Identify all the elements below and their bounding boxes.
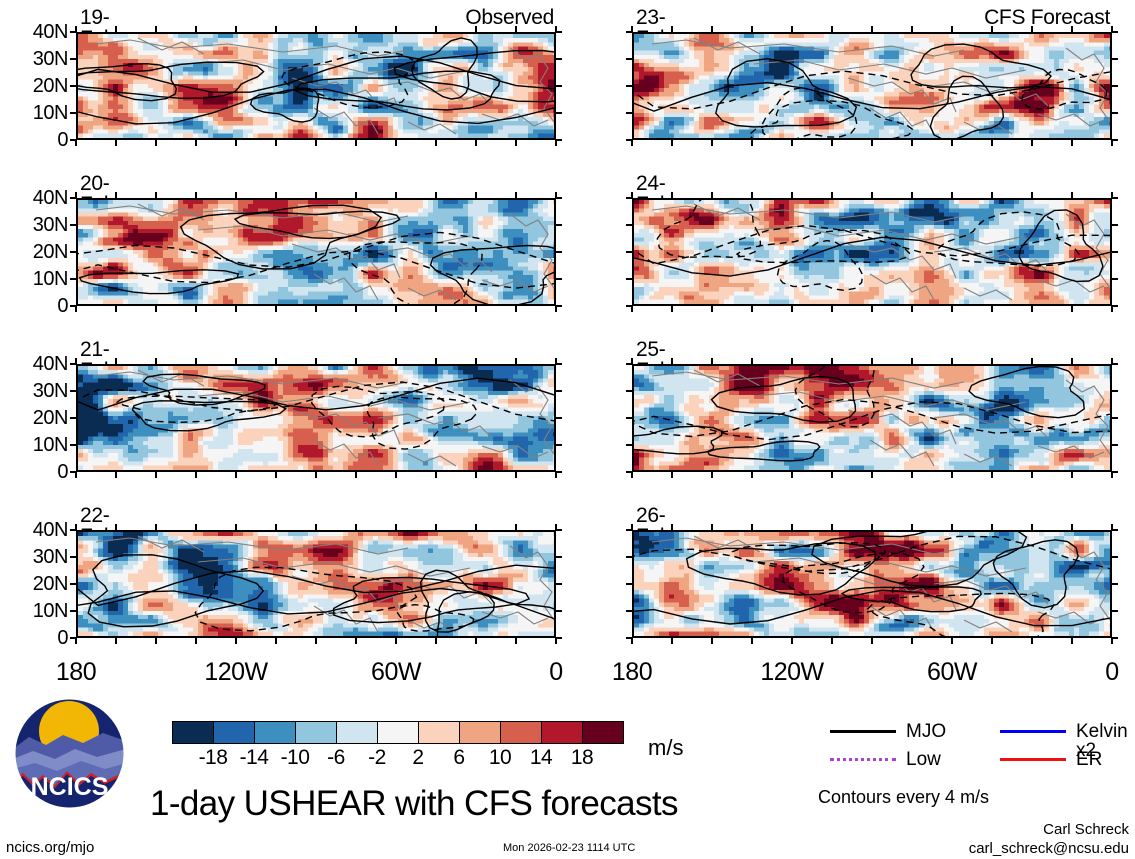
panel-kind-label: CFS Forecast — [882, 7, 1110, 28]
legend-swatch-low — [830, 758, 896, 761]
x-tick-mark — [515, 358, 517, 364]
legend-label-er: ER — [1076, 750, 1102, 769]
y-tick-40N: 40N — [2, 520, 68, 540]
x-tick-mark — [315, 306, 317, 312]
x-tick-mark — [671, 524, 673, 530]
colorbar — [172, 721, 624, 744]
x-tick-mark — [831, 26, 833, 32]
x-tick-mark — [515, 638, 517, 644]
x-tick-mark — [951, 358, 953, 364]
y-tick-mark — [1112, 139, 1118, 141]
y-tick-mark — [556, 224, 562, 226]
colorbar-swatch-4 — [336, 722, 377, 743]
y-tick-mark — [70, 139, 76, 141]
colorbar-swatch-9 — [541, 722, 582, 743]
y-tick-40N: 40N — [2, 188, 68, 208]
y-tick-mark — [626, 444, 632, 446]
y-tick-mark — [1112, 197, 1118, 199]
y-tick-mark — [1112, 556, 1118, 558]
x-tick-mark — [1031, 472, 1033, 478]
y-tick-mark — [556, 278, 562, 280]
x-tick-mark — [195, 26, 197, 32]
y-tick-mark — [1112, 583, 1118, 585]
y-tick-mark — [626, 85, 632, 87]
x-tick-mark — [475, 358, 477, 364]
x-tick-mark — [195, 638, 197, 644]
x-tick-mark — [1031, 26, 1033, 32]
y-tick-mark — [1112, 278, 1118, 280]
x-tick-mark — [951, 26, 953, 32]
x-tick-right-60W: 60W — [907, 660, 997, 685]
y-tick-mark — [626, 112, 632, 114]
x-tick-mark — [395, 358, 397, 364]
x-tick-mark — [871, 306, 873, 312]
colorbar-swatch-8 — [500, 722, 541, 743]
y-tick-mark — [626, 139, 632, 141]
x-tick-mark — [435, 306, 437, 312]
x-tick-mark — [395, 472, 397, 478]
x-tick-mark — [475, 192, 477, 198]
x-tick-mark — [275, 306, 277, 312]
x-tick-mark — [751, 472, 753, 478]
x-tick-mark — [1031, 524, 1033, 530]
x-tick-mark — [355, 524, 357, 530]
y-tick-mark — [1112, 444, 1118, 446]
y-tick-mark — [70, 556, 76, 558]
x-tick-mark — [1071, 638, 1073, 644]
y-tick-10N: 10N — [2, 601, 68, 621]
x-tick-mark — [711, 638, 713, 644]
x-tick-mark — [475, 140, 477, 146]
x-tick-mark — [751, 306, 753, 312]
x-tick-mark — [195, 192, 197, 198]
x-tick-mark — [751, 358, 753, 364]
x-tick-mark — [711, 306, 713, 312]
x-tick-mark — [1031, 638, 1033, 644]
x-tick-mark — [195, 306, 197, 312]
x-tick-mark — [711, 192, 713, 198]
x-tick-mark — [235, 140, 237, 146]
colorbar-swatch-3 — [295, 722, 336, 743]
x-tick-mark — [115, 306, 117, 312]
x-tick-mark — [751, 140, 753, 146]
y-tick-10N: 10N — [2, 435, 68, 455]
x-tick-mark — [911, 472, 913, 478]
x-tick-mark — [911, 192, 913, 198]
y-tick-mark — [1112, 529, 1118, 531]
x-tick-left-180: 180 — [31, 660, 121, 685]
colorbar-swatch-2 — [254, 722, 295, 743]
x-tick-mark — [315, 524, 317, 530]
x-tick-left-60W: 60W — [351, 660, 441, 685]
x-tick-mark — [671, 192, 673, 198]
colorbar-swatch-0 — [173, 722, 213, 743]
y-tick-mark — [556, 529, 562, 531]
x-tick-mark — [791, 472, 793, 478]
x-tick-mark — [911, 306, 913, 312]
y-tick-mark — [70, 305, 76, 307]
x-tick-mark — [155, 140, 157, 146]
y-tick-mark — [626, 556, 632, 558]
x-tick-mark — [711, 140, 713, 146]
panel-kind-label: Observed — [326, 7, 554, 28]
x-tick-mark — [155, 192, 157, 198]
x-tick-mark — [751, 524, 753, 530]
y-tick-mark — [626, 390, 632, 392]
x-tick-mark — [1031, 140, 1033, 146]
x-tick-mark — [315, 192, 317, 198]
y-tick-mark — [556, 637, 562, 639]
x-tick-mark — [711, 524, 713, 530]
x-tick-mark — [871, 192, 873, 198]
x-tick-mark — [235, 192, 237, 198]
x-tick-mark — [395, 140, 397, 146]
x-tick-mark — [155, 472, 157, 478]
plot-area — [76, 530, 556, 638]
x-tick-mark — [235, 306, 237, 312]
y-tick-mark — [556, 85, 562, 87]
x-tick-mark — [435, 26, 437, 32]
x-tick-mark — [355, 306, 357, 312]
x-tick-mark — [355, 472, 357, 478]
y-tick-mark — [556, 471, 562, 473]
x-tick-mark — [475, 26, 477, 32]
colorbar-units: m/s — [648, 737, 683, 759]
x-tick-mark — [515, 26, 517, 32]
y-tick-mark — [556, 139, 562, 141]
x-tick-mark — [871, 524, 873, 530]
x-tick-mark — [395, 26, 397, 32]
y-tick-mark — [1112, 471, 1118, 473]
y-tick-mark — [556, 363, 562, 365]
x-tick-mark — [435, 140, 437, 146]
y-tick-mark — [556, 58, 562, 60]
x-tick-mark — [115, 524, 117, 530]
x-tick-mark — [115, 140, 117, 146]
x-tick-right-0: 0 — [1067, 660, 1135, 685]
y-tick-mark — [626, 637, 632, 639]
y-tick-mark — [70, 58, 76, 60]
x-tick-mark — [275, 140, 277, 146]
y-tick-mark — [626, 417, 632, 419]
y-tick-30N: 30N — [2, 547, 68, 567]
y-tick-30N: 30N — [2, 381, 68, 401]
y-tick-mark — [556, 583, 562, 585]
y-tick-mark — [70, 85, 76, 87]
x-tick-mark — [1071, 358, 1073, 364]
legend-swatch-er — [1000, 758, 1066, 761]
x-tick-mark — [475, 638, 477, 644]
plot-area — [76, 32, 556, 140]
y-tick-20N: 20N — [2, 408, 68, 428]
x-tick-mark — [751, 638, 753, 644]
x-tick-mark — [315, 26, 317, 32]
x-tick-mark — [831, 140, 833, 146]
x-tick-mark — [991, 358, 993, 364]
plot-area — [632, 198, 1112, 306]
x-tick-mark — [831, 192, 833, 198]
y-tick-mark — [70, 444, 76, 446]
x-tick-mark — [395, 638, 397, 644]
x-tick-mark — [115, 472, 117, 478]
x-tick-mark — [435, 524, 437, 530]
y-tick-mark — [556, 305, 562, 307]
x-tick-mark — [395, 524, 397, 530]
y-tick-mark — [626, 305, 632, 307]
x-tick-mark — [951, 638, 953, 644]
y-tick-mark — [1112, 31, 1118, 33]
x-tick-mark — [475, 524, 477, 530]
x-tick-mark — [355, 192, 357, 198]
x-tick-mark — [991, 524, 993, 530]
x-tick-mark — [791, 26, 793, 32]
x-tick-mark — [671, 306, 673, 312]
x-tick-mark — [991, 26, 993, 32]
y-tick-mark — [70, 610, 76, 612]
x-tick-mark — [115, 358, 117, 364]
ncics-logo: NCICS — [13, 697, 126, 810]
footer-author: Carl Schreck — [879, 822, 1129, 837]
x-tick-mark — [195, 358, 197, 364]
x-tick-left-120W: 120W — [191, 660, 281, 685]
y-tick-mark — [1112, 58, 1118, 60]
x-tick-mark — [751, 192, 753, 198]
colorbar-swatch-5 — [377, 722, 418, 743]
y-tick-mark — [556, 610, 562, 612]
y-tick-mark — [556, 112, 562, 114]
y-tick-mark — [556, 556, 562, 558]
y-tick-mark — [556, 444, 562, 446]
x-tick-mark — [115, 26, 117, 32]
y-tick-mark — [1112, 85, 1118, 87]
y-tick-mark — [70, 529, 76, 531]
legend-label-mjo: MJO — [906, 722, 946, 741]
y-tick-mark — [1112, 637, 1118, 639]
x-tick-mark — [791, 524, 793, 530]
x-tick-mark — [275, 638, 277, 644]
x-tick-mark — [831, 358, 833, 364]
y-tick-40N: 40N — [2, 22, 68, 42]
colorbar-tick-18: 18 — [557, 747, 607, 768]
x-tick-mark — [315, 358, 317, 364]
y-tick-mark — [1112, 363, 1118, 365]
legend-swatch-mjo — [830, 730, 896, 733]
x-tick-mark — [671, 140, 673, 146]
y-tick-mark — [556, 390, 562, 392]
x-tick-mark — [951, 524, 953, 530]
x-tick-mark — [435, 472, 437, 478]
x-tick-mark — [235, 358, 237, 364]
y-tick-mark — [70, 197, 76, 199]
x-tick-mark — [235, 26, 237, 32]
y-tick-mark — [556, 31, 562, 33]
x-tick-mark — [831, 472, 833, 478]
y-tick-mark — [556, 197, 562, 199]
x-tick-mark — [155, 524, 157, 530]
y-tick-30N: 30N — [2, 49, 68, 69]
x-tick-mark — [711, 472, 713, 478]
colorbar-swatch-10 — [582, 722, 623, 743]
x-tick-mark — [671, 26, 673, 32]
x-tick-mark — [871, 26, 873, 32]
y-tick-mark — [70, 278, 76, 280]
x-tick-mark — [475, 306, 477, 312]
x-tick-mark — [1071, 26, 1073, 32]
footer-timestamp: Mon 2026-02-23 1114 UTC — [503, 843, 635, 854]
y-tick-10N: 10N — [2, 269, 68, 289]
x-tick-mark — [195, 140, 197, 146]
x-tick-mark — [355, 358, 357, 364]
y-tick-mark — [70, 390, 76, 392]
y-tick-mark — [626, 363, 632, 365]
x-tick-mark — [275, 524, 277, 530]
x-tick-mark — [1031, 192, 1033, 198]
x-tick-mark — [991, 472, 993, 478]
y-tick-mark — [626, 583, 632, 585]
x-tick-mark — [235, 524, 237, 530]
x-tick-mark — [911, 26, 913, 32]
x-tick-mark — [791, 358, 793, 364]
y-tick-mark — [1112, 305, 1118, 307]
y-tick-mark — [1112, 251, 1118, 253]
x-tick-mark — [911, 524, 913, 530]
x-tick-mark — [791, 192, 793, 198]
y-tick-0: 0 — [2, 296, 68, 316]
x-tick-mark — [791, 638, 793, 644]
y-tick-mark — [626, 529, 632, 531]
x-tick-mark — [1071, 524, 1073, 530]
x-tick-mark — [1071, 306, 1073, 312]
x-tick-mark — [195, 524, 197, 530]
x-tick-mark — [951, 306, 953, 312]
x-tick-mark — [951, 192, 953, 198]
y-tick-40N: 40N — [2, 354, 68, 374]
y-tick-0: 0 — [2, 628, 68, 648]
x-tick-mark — [155, 306, 157, 312]
x-tick-mark — [991, 192, 993, 198]
x-tick-mark — [155, 638, 157, 644]
y-tick-mark — [1112, 610, 1118, 612]
x-tick-mark — [751, 26, 753, 32]
plot-area — [632, 530, 1112, 638]
x-tick-mark — [871, 472, 873, 478]
y-tick-mark — [1112, 417, 1118, 419]
x-tick-mark — [195, 472, 197, 478]
x-tick-mark — [515, 192, 517, 198]
legend-label-low: Low — [906, 750, 941, 769]
x-tick-mark — [235, 472, 237, 478]
y-tick-10N: 10N — [2, 103, 68, 123]
x-tick-mark — [155, 358, 157, 364]
x-tick-mark — [315, 140, 317, 146]
x-tick-mark — [911, 358, 913, 364]
x-tick-mark — [871, 358, 873, 364]
x-tick-mark — [155, 26, 157, 32]
y-tick-20N: 20N — [2, 574, 68, 594]
x-tick-mark — [355, 26, 357, 32]
x-tick-mark — [515, 472, 517, 478]
x-tick-mark — [671, 358, 673, 364]
x-tick-mark — [395, 192, 397, 198]
colorbar-swatch-7 — [459, 722, 500, 743]
y-tick-0: 0 — [2, 462, 68, 482]
y-tick-30N: 30N — [2, 215, 68, 235]
y-tick-20N: 20N — [2, 242, 68, 262]
plot-area — [76, 364, 556, 472]
x-tick-mark — [911, 140, 913, 146]
x-tick-mark — [435, 192, 437, 198]
y-tick-mark — [1112, 390, 1118, 392]
x-tick-mark — [711, 358, 713, 364]
x-tick-mark — [275, 472, 277, 478]
y-tick-mark — [70, 251, 76, 253]
x-tick-mark — [951, 472, 953, 478]
y-tick-mark — [1112, 224, 1118, 226]
x-tick-mark — [1071, 472, 1073, 478]
x-tick-mark — [115, 192, 117, 198]
y-tick-mark — [70, 363, 76, 365]
x-tick-mark — [991, 638, 993, 644]
footer-site[interactable]: ncics.org/mjo — [6, 840, 94, 855]
x-tick-mark — [1031, 358, 1033, 364]
plot-area — [632, 364, 1112, 472]
x-tick-mark — [515, 524, 517, 530]
x-tick-mark — [315, 638, 317, 644]
y-tick-mark — [1112, 112, 1118, 114]
y-tick-0: 0 — [2, 130, 68, 150]
y-tick-mark — [70, 637, 76, 639]
x-tick-mark — [871, 140, 873, 146]
x-tick-mark — [515, 306, 517, 312]
x-tick-mark — [991, 306, 993, 312]
x-tick-mark — [1031, 306, 1033, 312]
x-tick-mark — [871, 638, 873, 644]
x-tick-mark — [435, 358, 437, 364]
x-tick-mark — [355, 638, 357, 644]
x-tick-mark — [275, 26, 277, 32]
colorbar-swatch-1 — [213, 722, 254, 743]
y-tick-mark — [626, 197, 632, 199]
y-tick-mark — [626, 251, 632, 253]
x-tick-mark — [115, 638, 117, 644]
x-tick-right-180: 180 — [587, 660, 677, 685]
x-tick-mark — [275, 358, 277, 364]
y-tick-mark — [70, 417, 76, 419]
x-tick-mark — [355, 140, 357, 146]
y-tick-mark — [626, 471, 632, 473]
y-tick-mark — [70, 583, 76, 585]
x-tick-mark — [991, 140, 993, 146]
legend-swatch-kelvin-x2 — [1000, 730, 1066, 733]
y-tick-mark — [70, 31, 76, 33]
y-tick-mark — [626, 224, 632, 226]
y-tick-mark — [626, 31, 632, 33]
y-tick-20N: 20N — [2, 76, 68, 96]
x-tick-mark — [951, 140, 953, 146]
y-tick-mark — [70, 112, 76, 114]
x-tick-mark — [671, 472, 673, 478]
x-tick-mark — [711, 26, 713, 32]
x-tick-mark — [475, 472, 477, 478]
x-tick-mark — [1071, 140, 1073, 146]
x-tick-mark — [235, 638, 237, 644]
chart-title: 1-day USHEAR with CFS forecasts — [150, 786, 678, 821]
x-tick-mark — [911, 638, 913, 644]
x-tick-mark — [515, 140, 517, 146]
y-tick-mark — [626, 58, 632, 60]
x-tick-mark — [831, 524, 833, 530]
x-tick-mark — [671, 638, 673, 644]
